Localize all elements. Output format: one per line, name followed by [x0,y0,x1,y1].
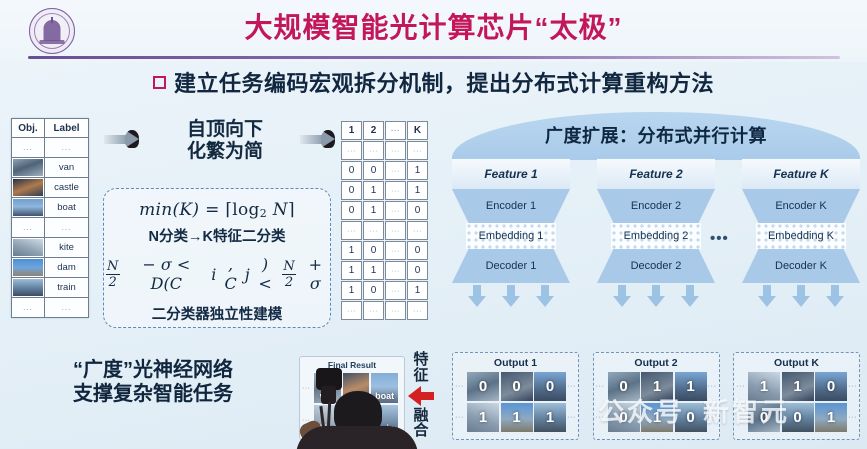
thumbnail-placeholder-dots: ... [12,298,45,318]
output-left-dots: ··· [596,412,605,421]
formula-line-4: 二分类器独立性建模 [104,303,330,324]
output-box-k: Output K ··· ··· ··· ··· 1 1 0 0 0 1 [733,352,860,440]
panel-arch-label: 广度扩展：分布式并行计算 [452,122,860,148]
label-cell: train [45,278,89,298]
log-operator: log [232,200,259,220]
matrix-cell: ··· [407,141,428,160]
matrix-row: 1 0 ··· 0 [341,241,428,260]
matrix-row: 1 1 ··· 0 [341,261,428,280]
output-bit-cell: 0 [467,372,499,401]
slide-canvas: 大规模智能光计算芯片“太极” 建立任务编码宏观拆分机制，提出分布式计算重构方法 … [0,0,867,449]
output-right-dots: ··· [848,381,857,390]
output-bit-cell: 1 [467,403,499,432]
formula-n: N [273,200,288,220]
label-cell: dam [45,258,89,278]
label-cell: boat [45,198,89,218]
castle-photo-thumbnail [13,179,43,196]
output-bit-cell: 1 [501,403,533,432]
arrow-shaft [104,135,127,144]
output-left-dots: ··· [596,381,605,390]
output-bit-cell: 0 [608,372,640,401]
down-arrow-icon [681,285,699,307]
formula-line-3: N 2 − σ < D(Ci, Cj) < N 2 + σ [104,255,330,293]
matrix-cell: 1 [407,181,428,200]
table-row: kite [12,238,89,258]
output-bit-cell: 1 [782,372,814,401]
table-row: dam [12,258,89,278]
fusion-char-1: 特 [408,352,434,368]
output-bit-cell: 1 [641,403,673,432]
title-underline-rule [28,56,840,59]
matrix-cell: ··· [385,241,406,260]
thumbnail-cell [12,278,45,298]
matrix-cell: 0 [341,161,362,180]
formula-line-2: N分类→K特征二分类 [104,225,330,246]
embedding-block: Embedding K [756,223,846,249]
columns-ellipsis: ••• [710,230,729,247]
final-result-cell: train [371,405,398,435]
feature-band: Feature 2 [597,159,715,189]
binary-code-matrix: 1 2 ··· K ··· ··· ··· ··· 0 0 ··· 1 0 1 … [340,120,429,321]
table-header-row: Obj. Label [12,119,89,138]
output-box-1: Output 1 ··· ··· ··· ··· 0 0 0 1 1 1 [452,352,579,440]
matrix-header-row: 1 2 ··· K [341,121,428,140]
pipeline-column-2: Feature 2 Encoder 2 Embedding 2 Decoder … [597,159,715,309]
output-right-dots: ··· [567,412,576,421]
log-base-subscript: 2 [260,207,267,220]
decoder-block: Decoder 2 [597,249,715,283]
down-arrow-icon [613,285,631,307]
matrix-cell: ··· [407,301,428,320]
pipeline-column-k: Feature K Encoder K Embedding K Decoder … [742,159,860,309]
bottom-caption-line1: “广度”光神经网络 [22,358,284,382]
matrix-cell: 0 [363,241,384,260]
down-arrow-icon [826,285,844,307]
arrow-shaft [420,392,434,400]
output-title: Output K [734,353,859,369]
matrix-row: ··· ··· ··· ··· [341,301,428,320]
matrix-cell: ··· [385,141,406,160]
width-expansion-panel: 广度扩展：分布式并行计算 Feature 1 Encoder 1 Embeddi… [452,112,860,344]
matrix-cell: 0 [363,161,384,180]
matrix-cell: 0 [341,181,362,200]
arrow-shaft [300,135,323,144]
output-left-dots: ··· [736,412,745,421]
page-title: 大规模智能光计算芯片“太极” [0,6,867,46]
column-header-obj: Obj. [12,119,45,138]
thumbnail-cell [12,258,45,278]
label-cell: ... [45,218,89,238]
output-bit-grid: 0 1 1 0 1 0 [608,372,707,432]
matrix-cell: 1 [407,161,428,180]
label-cell: ... [45,138,89,158]
table-row: boat [12,198,89,218]
boat-photo-thumbnail [13,199,43,216]
output-left-dots: ··· [455,381,464,390]
fraction-n-over-2-right: N 2 [280,260,297,289]
output-bit-cell: 1 [748,372,780,401]
train-photo-thumbnail [13,279,43,296]
feature-band: Feature 1 [452,159,570,189]
output-bit-cell: 0 [675,403,707,432]
output-arrows-group [452,283,570,307]
output-title: Output 2 [594,353,719,369]
formula-comma: , C [219,255,241,293]
label-cell: van [45,158,89,178]
matrix-cell: 1 [407,281,428,300]
table-row: ... ... [12,138,89,158]
output-right-dots: ··· [708,412,717,421]
matrix-col-header-2: 2 [363,121,384,140]
thumbnail-cell [12,198,45,218]
gray-arrow-right-icon-1 [104,130,140,148]
table-row: castle [12,178,89,198]
formula-sigma-tail: + σ [301,255,330,293]
output-bit-cell: 0 [608,403,640,432]
fraction-denominator: 2 [106,274,120,289]
final-result-grid: van castle boat kite dam train [314,373,398,435]
matrix-cell: ··· [341,141,362,160]
matrix-row: ··· ··· ··· ··· [341,221,428,240]
table-row: van [12,158,89,178]
output-arrows-group [742,283,860,307]
matrix-cell: ··· [385,221,406,240]
formula-min-k: min(K) = [139,200,225,220]
output-title: Output 1 [453,353,578,369]
down-arrow-icon [792,285,810,307]
output-bit-cell: 0 [501,372,533,401]
output-bit-cell: 0 [815,372,847,401]
matrix-cell: 1 [363,201,384,220]
matrix-cell: ··· [363,221,384,240]
formula-line-1: min(K) = ⌈log2 N⌉ [104,200,330,220]
table-row: ... ... [12,298,89,318]
final-result-panel: Final Result ··· ··· van castle boat kit… [299,356,405,440]
encoder-block: Encoder 2 [597,189,715,223]
matrix-cell: ··· [385,301,406,320]
output-bit-cell: 1 [534,403,566,432]
matrix-cell: ··· [385,261,406,280]
encoder-block: Encoder K [742,189,860,223]
down-arrow-icon [468,285,486,307]
matrix-col-header-k: K [407,121,428,140]
final-left-dots: ··· [302,385,311,392]
decoder-block: Decoder 1 [452,249,570,283]
subtitle-text: 建立任务编码宏观拆分机制，提出分布式计算重构方法 [174,66,714,98]
encoder-block: Encoder 1 [452,189,570,223]
encoder-decoder-columns: Feature 1 Encoder 1 Embedding 1 Decoder … [452,159,860,309]
output-bit-cell: 1 [815,403,847,432]
matrix-cell: ··· [385,181,406,200]
final-left-dots: ··· [302,417,311,424]
feature-band: Feature K [742,159,860,189]
output-bit-cell: 0 [782,403,814,432]
output-box-2: Output 2 ··· ··· ··· ··· 0 1 1 0 1 0 [593,352,720,440]
final-result-title: Final Result [300,357,404,370]
matrix-cell: ··· [385,281,406,300]
square-bullet-icon [153,76,166,89]
matrix-cell: 1 [363,261,384,280]
output-bit-cell: 1 [675,372,707,401]
formula-close-paren: ) < [253,255,278,293]
output-bit-grid: 1 1 0 0 0 1 [748,372,847,432]
label-cell: kite [45,238,89,258]
arrow-head [321,130,335,148]
fusion-char-2: 征 [408,368,434,384]
formula-distance-expr: − σ < D(C [124,255,208,293]
label-cell: ... [45,298,89,318]
arrow-head [408,386,421,406]
down-arrow-icon [502,285,520,307]
matrix-cell: 1 [341,261,362,280]
fusion-char-4: 合 [408,423,434,439]
gray-arrow-right-icon-2 [300,130,336,148]
bottom-caption: “广度”光神经网络 支撑复杂智能任务 [22,358,284,406]
matrix-cell: ··· [407,221,428,240]
matrix-cell: ··· [385,201,406,220]
middle-heading-line2: 化繁为简 [150,141,300,163]
embedding-block: Embedding 1 [466,223,556,249]
output-right-dots: ··· [567,381,576,390]
arrow-head [125,130,139,148]
formula-box: min(K) = ⌈log2 N⌉ N分类→K特征二分类 N 2 − σ < D… [103,188,331,328]
thumbnail-placeholder-dots: ... [12,138,45,158]
matrix-cell: ··· [363,301,384,320]
down-arrow-icon [758,285,776,307]
final-result-cell: van [314,373,341,403]
outputs-row: Output 1 ··· ··· ··· ··· 0 0 0 1 1 1 Out… [452,352,860,442]
decoder-block: Decoder K [742,249,860,283]
subtitle-row: 建立任务编码宏观拆分机制，提出分布式计算重构方法 [0,66,867,98]
middle-heading-line1: 自顶向下 [150,119,300,141]
matrix-cell: 0 [363,281,384,300]
matrix-cell: ··· [341,221,362,240]
output-left-dots: ··· [455,412,464,421]
bottom-caption-line2: 支撑复杂智能任务 [22,382,284,406]
final-result-cell: kite [314,405,341,435]
down-arrow-icon [647,285,665,307]
subscript-i: i [211,265,216,284]
final-result-cell: castle [343,373,370,403]
middle-heading: 自顶向下 化繁为简 [150,119,300,163]
ceil-close-bracket: ⌉ [288,200,295,220]
matrix-cell: ··· [363,141,384,160]
fraction-n-over-2-left: N 2 [104,260,121,289]
output-right-dots: ··· [848,412,857,421]
output-right-dots: ··· [708,381,717,390]
fusion-char-3: 融 [408,408,434,424]
output-left-dots: ··· [736,381,745,390]
red-arrow-left-icon [408,386,434,406]
thumbnail-cell [12,178,45,198]
matrix-cell: 0 [407,261,428,280]
dam-photo-thumbnail [13,259,43,276]
matrix-cell: 0 [341,201,362,220]
matrix-cell: 0 [407,241,428,260]
subscript-j: j [245,265,250,284]
matrix-cell: 0 [407,201,428,220]
matrix-row: 0 0 ··· 1 [341,161,428,180]
matrix-cell: 1 [341,281,362,300]
thumbnail-cell [12,158,45,178]
output-bit-grid: 0 0 0 1 1 1 [467,372,566,432]
thumbnail-cell [12,238,45,258]
down-arrow-icon [536,285,554,307]
final-result-cell: boat [371,373,398,403]
matrix-cell: 1 [341,241,362,260]
matrix-cell: ··· [341,301,362,320]
matrix-col-header-1: 1 [341,121,362,140]
kite-photo-thumbnail [13,239,43,256]
matrix-row: 0 1 ··· 0 [341,201,428,220]
table-row: train [12,278,89,298]
output-bit-cell: 0 [748,403,780,432]
matrix-row: ··· ··· ··· ··· [341,141,428,160]
final-result-cell: dam [343,405,370,435]
matrix-col-header-dots: ··· [385,121,406,140]
column-header-label: Label [45,119,89,138]
output-bit-cell: 1 [641,372,673,401]
label-cell: castle [45,178,89,198]
embedding-block: Embedding 2 [611,223,701,249]
fraction-numerator: N [104,260,121,274]
object-label-table: Obj. Label ... ... van castle boat ... .… [11,118,89,318]
feature-fusion-label: 特 征 融 合 [408,352,434,444]
table-row: ... ... [12,218,89,238]
matrix-cell: 1 [363,181,384,200]
output-arrows-group [597,283,715,307]
thumbnail-placeholder-dots: ... [12,218,45,238]
matrix-cell: ··· [385,161,406,180]
fraction-numerator: N [280,260,297,274]
matrix-row: 0 1 ··· 1 [341,181,428,200]
pipeline-column-1: Feature 1 Encoder 1 Embedding 1 Decoder … [452,159,570,309]
matrix-row: 1 0 ··· 1 [341,281,428,300]
van-photo-thumbnail [13,159,43,176]
output-bit-cell: 0 [534,372,566,401]
fraction-denominator: 2 [282,274,296,289]
